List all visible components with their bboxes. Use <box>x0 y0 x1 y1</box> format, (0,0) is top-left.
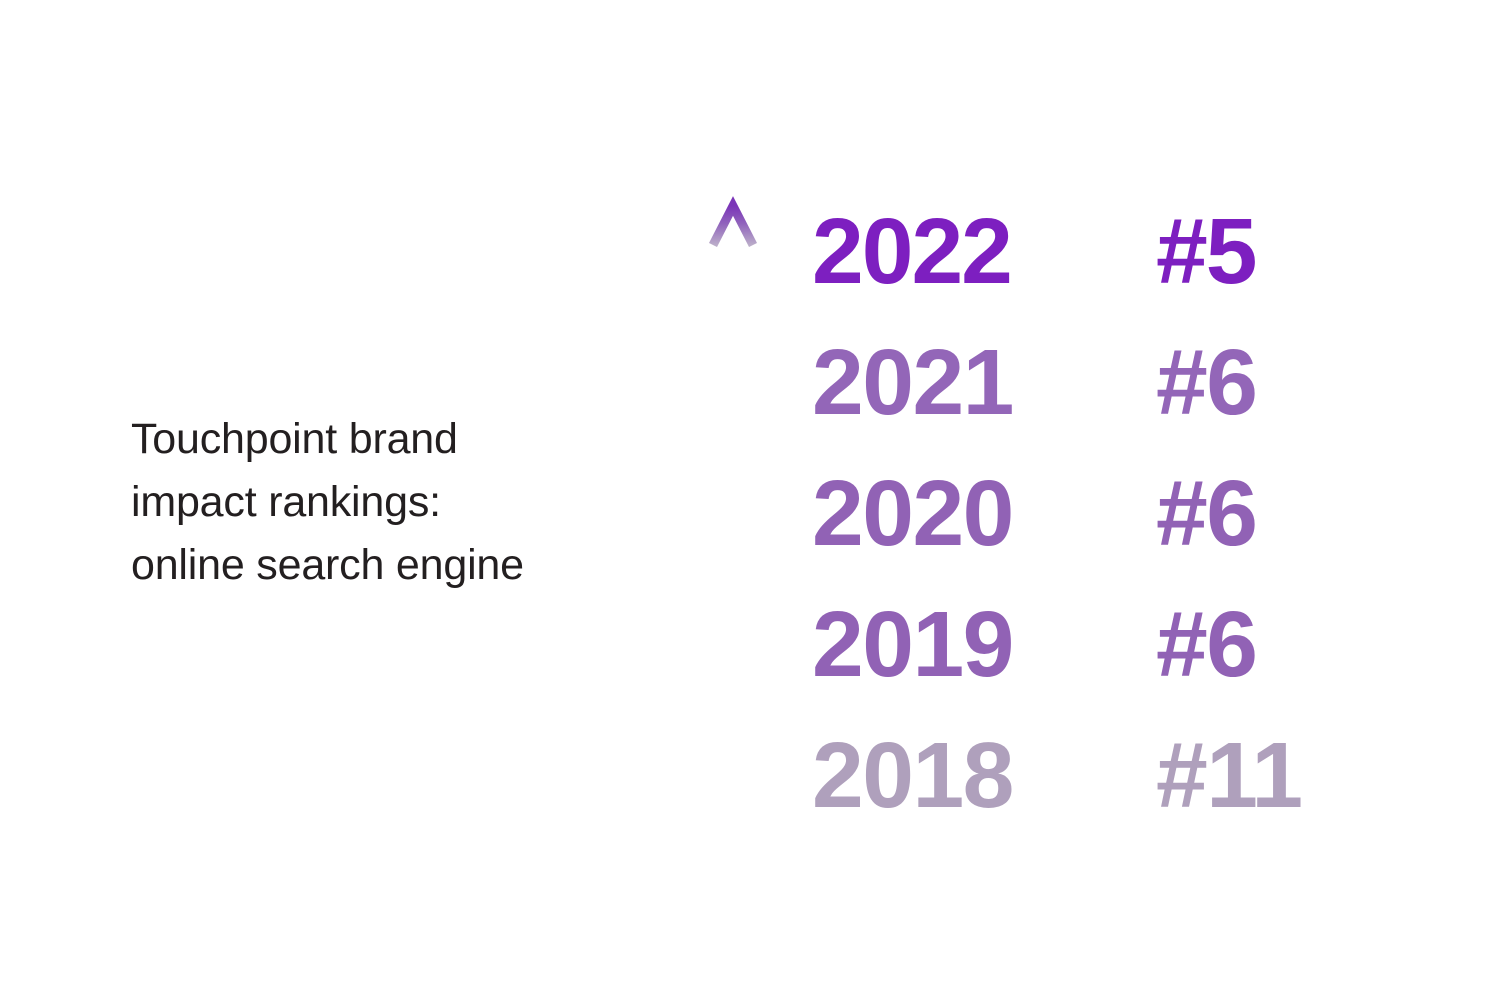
ranking-year: 2022 <box>812 186 1011 317</box>
ranking-row-2021: 2021 #6 <box>812 317 1372 448</box>
ranking-row-2019: 2019 #6 <box>812 579 1372 710</box>
rankings-list: 2022 #5 2021 #6 2020 #6 2019 #6 2018 #11 <box>812 186 1372 841</box>
ranking-year: 2019 <box>812 579 1013 710</box>
ranking-year: 2018 <box>812 710 1013 841</box>
ranking-year: 2021 <box>812 317 1013 448</box>
caption-line-2: impact rankings: <box>131 471 671 534</box>
up-arrow-icon <box>700 195 770 835</box>
caption-block: Touchpoint brand impact rankings: online… <box>131 408 671 597</box>
ranking-row-2018: 2018 #11 <box>812 710 1372 841</box>
ranking-year: 2020 <box>812 448 1013 579</box>
ranking-value: #11 <box>1156 710 1302 841</box>
ranking-value: #6 <box>1156 448 1256 579</box>
caption-line-1: Touchpoint brand <box>131 408 671 471</box>
ranking-row-2020: 2020 #6 <box>812 448 1372 579</box>
ranking-value: #6 <box>1156 317 1256 448</box>
caption-line-3: online search engine <box>131 534 671 597</box>
ranking-row-2022: 2022 #5 <box>812 186 1372 317</box>
ranking-value: #6 <box>1156 579 1256 710</box>
ranking-value: #5 <box>1156 186 1255 317</box>
infographic-canvas: Touchpoint brand impact rankings: online… <box>0 0 1500 1000</box>
